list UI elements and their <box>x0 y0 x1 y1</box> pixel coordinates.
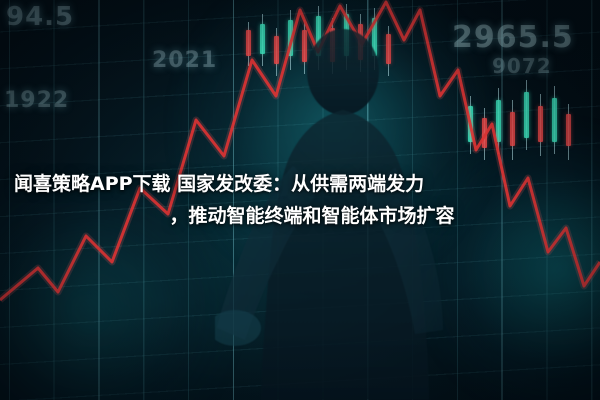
news-thumbnail-image: 94.5 1922 2021 2965.5 9072 <box>0 0 600 400</box>
headline-line-2: ，推动智能终端和智能体市场扩容 <box>14 200 586 232</box>
headline-text-block: 闻喜策略APP下载 国家发改委：从供需两端发力 ，推动智能终端和智能体市场扩容 <box>0 168 600 232</box>
headline-line-1: 闻喜策略APP下载 国家发改委：从供需两端发力 <box>14 168 586 200</box>
